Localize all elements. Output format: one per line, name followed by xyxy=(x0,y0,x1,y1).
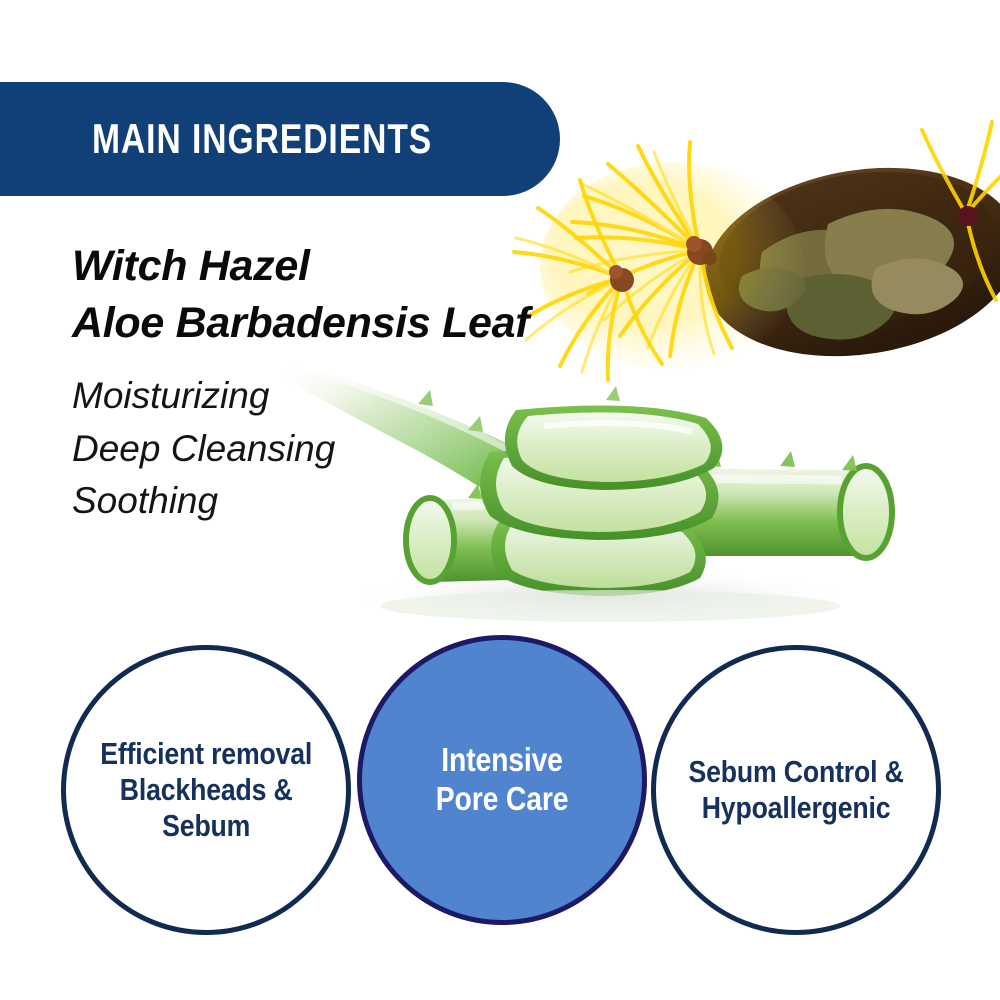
feature-circle-group: Efficient removal Blackheads & Sebum Int… xyxy=(0,0,1000,1000)
feature-line: Pore Care xyxy=(436,780,569,819)
feature-circle-efficient-removal: Efficient removal Blackheads & Sebum xyxy=(61,645,351,935)
feature-circle-intensive-pore-care: Intensive Pore Care xyxy=(357,635,647,925)
feature-circle-left-text: Efficient removal Blackheads & Sebum xyxy=(100,736,312,845)
feature-circle-sebum-control: Sebum Control & Hypoallergenic xyxy=(651,645,941,935)
feature-line: Efficient removal xyxy=(100,736,312,772)
ingredients-infographic: MAIN INGREDIENTS Witch Hazel Aloe Barbad… xyxy=(0,0,1000,1000)
feature-line: Blackheads & xyxy=(100,772,312,808)
feature-line: Hypoallergenic xyxy=(688,790,903,826)
feature-line: Sebum Control & xyxy=(688,754,903,790)
feature-circle-right-text: Sebum Control & Hypoallergenic xyxy=(688,754,903,827)
feature-line: Sebum xyxy=(100,808,312,844)
feature-line: Intensive xyxy=(436,741,569,780)
feature-circle-center-text: Intensive Pore Care xyxy=(436,741,569,818)
